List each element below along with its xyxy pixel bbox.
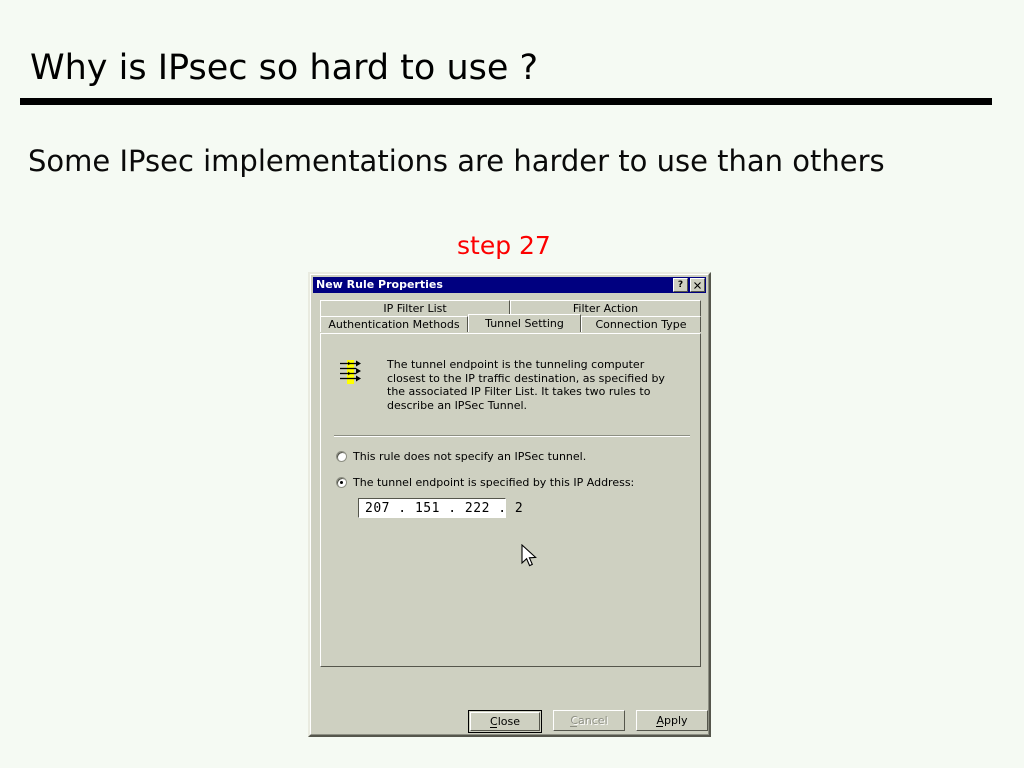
description-text: The tunnel endpoint is the tunneling com… xyxy=(387,358,679,412)
tab-connection-type[interactable]: Connection Type xyxy=(581,316,701,332)
close-button-label: Close xyxy=(490,715,520,728)
apply-button-label: Apply xyxy=(656,714,687,727)
section-separator xyxy=(334,435,690,437)
description-block: The tunnel endpoint is the tunneling com… xyxy=(339,358,679,412)
cancel-button: Cancel xyxy=(553,710,625,731)
page-title: Why is IPsec so hard to use ? xyxy=(30,48,538,88)
tunnel-endpoint-icon xyxy=(339,359,363,385)
tab-tunnel-setting[interactable]: Tunnel Setting xyxy=(468,314,581,332)
radio-tunnel-endpoint[interactable]: The tunnel endpoint is specified by this… xyxy=(336,476,634,489)
radio-button-selected-icon[interactable] xyxy=(336,477,347,488)
radio-button-icon[interactable] xyxy=(336,451,347,462)
ip-address-input[interactable]: 207 . 151 . 222 . 2 xyxy=(358,498,506,518)
radio-no-tunnel-label: This rule does not specify an IPSec tunn… xyxy=(353,450,586,463)
close-icon[interactable] xyxy=(690,278,705,292)
new-rule-properties-dialog: New Rule Properties ? IP Filter List Fil… xyxy=(308,272,711,737)
dialog-titlebar[interactable]: New Rule Properties ? xyxy=(313,277,706,293)
tab-authentication-methods[interactable]: Authentication Methods xyxy=(320,316,468,332)
help-button[interactable]: ? xyxy=(673,278,688,292)
close-button-face: Close xyxy=(470,712,540,731)
dialog-button-row: Close Cancel Apply xyxy=(468,710,708,733)
ip-address-value: 207 . 151 . 222 . 2 xyxy=(365,501,523,516)
close-button[interactable]: Close xyxy=(468,710,542,733)
tab-row-2: Authentication Methods Tunnel Setting Co… xyxy=(320,316,701,332)
title-underline-rule xyxy=(20,98,992,105)
dialog-title-text: New Rule Properties xyxy=(316,277,671,293)
tab-strip: IP Filter List Filter Action Authenticat… xyxy=(320,300,701,332)
apply-button[interactable]: Apply xyxy=(636,710,708,731)
radio-no-tunnel[interactable]: This rule does not specify an IPSec tunn… xyxy=(336,450,586,463)
step-label: step 27 xyxy=(457,231,551,260)
radio-tunnel-endpoint-label: The tunnel endpoint is specified by this… xyxy=(353,476,634,489)
cancel-button-label: Cancel xyxy=(570,714,607,727)
slide-subtitle: Some IPsec implementations are harder to… xyxy=(28,144,885,178)
